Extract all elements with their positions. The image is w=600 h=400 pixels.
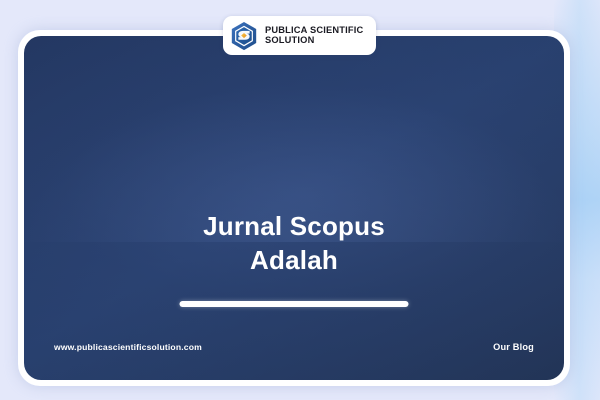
our-blog-link[interactable]: Our Blog [493, 342, 534, 352]
card-footer: www.publicascientificsolution.com Our Bl… [54, 342, 534, 352]
footer-website-url: www.publicascientificsolution.com [54, 342, 202, 352]
brand-name-line-2: SOLUTION [265, 36, 363, 46]
page-title: Jurnal Scopus Adalah [24, 210, 564, 278]
publica-hexagon-logo-icon [229, 21, 259, 51]
brand-badge[interactable]: PUBLICA SCIENTIFIC SOLUTION [223, 16, 376, 55]
brand-name-block: PUBLICA SCIENTIFIC SOLUTION [265, 26, 363, 46]
banner-card: Jurnal Scopus Adalah www.publicascientif… [24, 36, 564, 380]
title-divider [180, 301, 409, 307]
